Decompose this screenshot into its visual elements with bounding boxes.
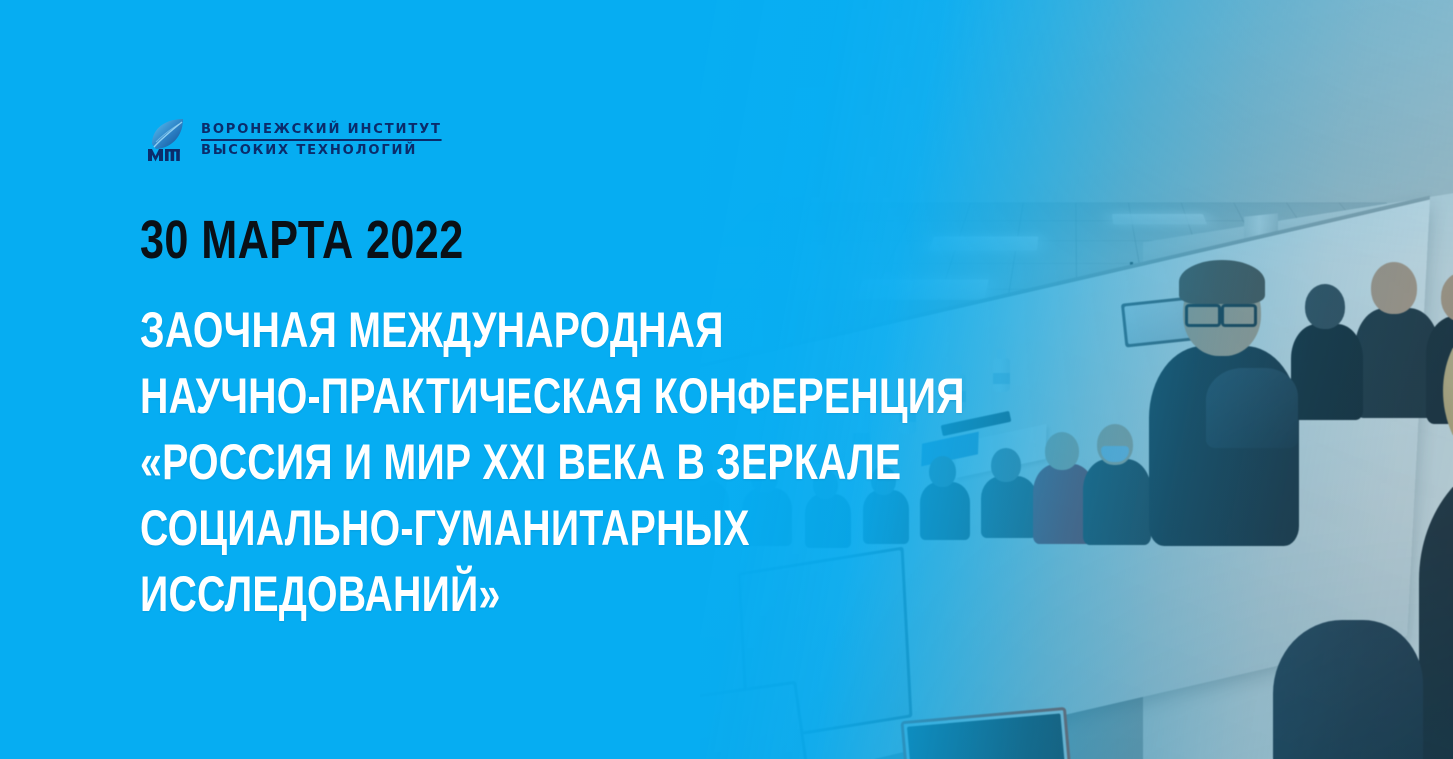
conference-announcement-banner: ВОРОНЕЖСКИЙ ИНСТИТУТ ВЫСОКИХ ТЕХНОЛОГИЙ …	[0, 0, 1453, 759]
event-date: 30 МАРТА 2022	[140, 213, 464, 267]
event-title-line-4: СОЦИАЛЬНО-ГУМАНИТАРНЫХ	[140, 495, 965, 561]
vivt-logo-text: ВОРОНЕЖСКИЙ ИНСТИТУТ ВЫСОКИХ ТЕХНОЛОГИЙ	[201, 123, 449, 157]
event-title-line-3: «РОССИЯ И МИР XXI ВЕКА В ЗЕРКАЛЕ	[140, 429, 965, 495]
banner-content: ВОРОНЕЖСКИЙ ИНСТИТУТ ВЫСОКИХ ТЕХНОЛОГИЙ …	[0, 0, 1453, 759]
event-title-line-2: НАУЧНО-ПРАКТИЧЕСКАЯ КОНФЕРЕНЦИЯ	[140, 363, 965, 429]
event-title-line-5: ИССЛЕДОВАНИЙ»	[140, 561, 965, 627]
event-title: ЗАОЧНАЯ МЕЖДУНАРОДНАЯ НАУЧНО-ПРАКТИЧЕСКА…	[140, 297, 1191, 627]
vivt-logo-line-1: ВОРОНЕЖСКИЙ ИНСТИТУТ	[201, 123, 442, 141]
event-title-line-1: ЗАОЧНАЯ МЕЖДУНАРОДНАЯ	[140, 297, 965, 363]
vivt-logo-mark-icon	[146, 118, 192, 162]
vivt-logo-line-2: ВЫСОКИХ ТЕХНОЛОГИЙ	[201, 144, 442, 158]
vivt-logo[interactable]: ВОРОНЕЖСКИЙ ИНСТИТУТ ВЫСОКИХ ТЕХНОЛОГИЙ	[146, 118, 449, 162]
